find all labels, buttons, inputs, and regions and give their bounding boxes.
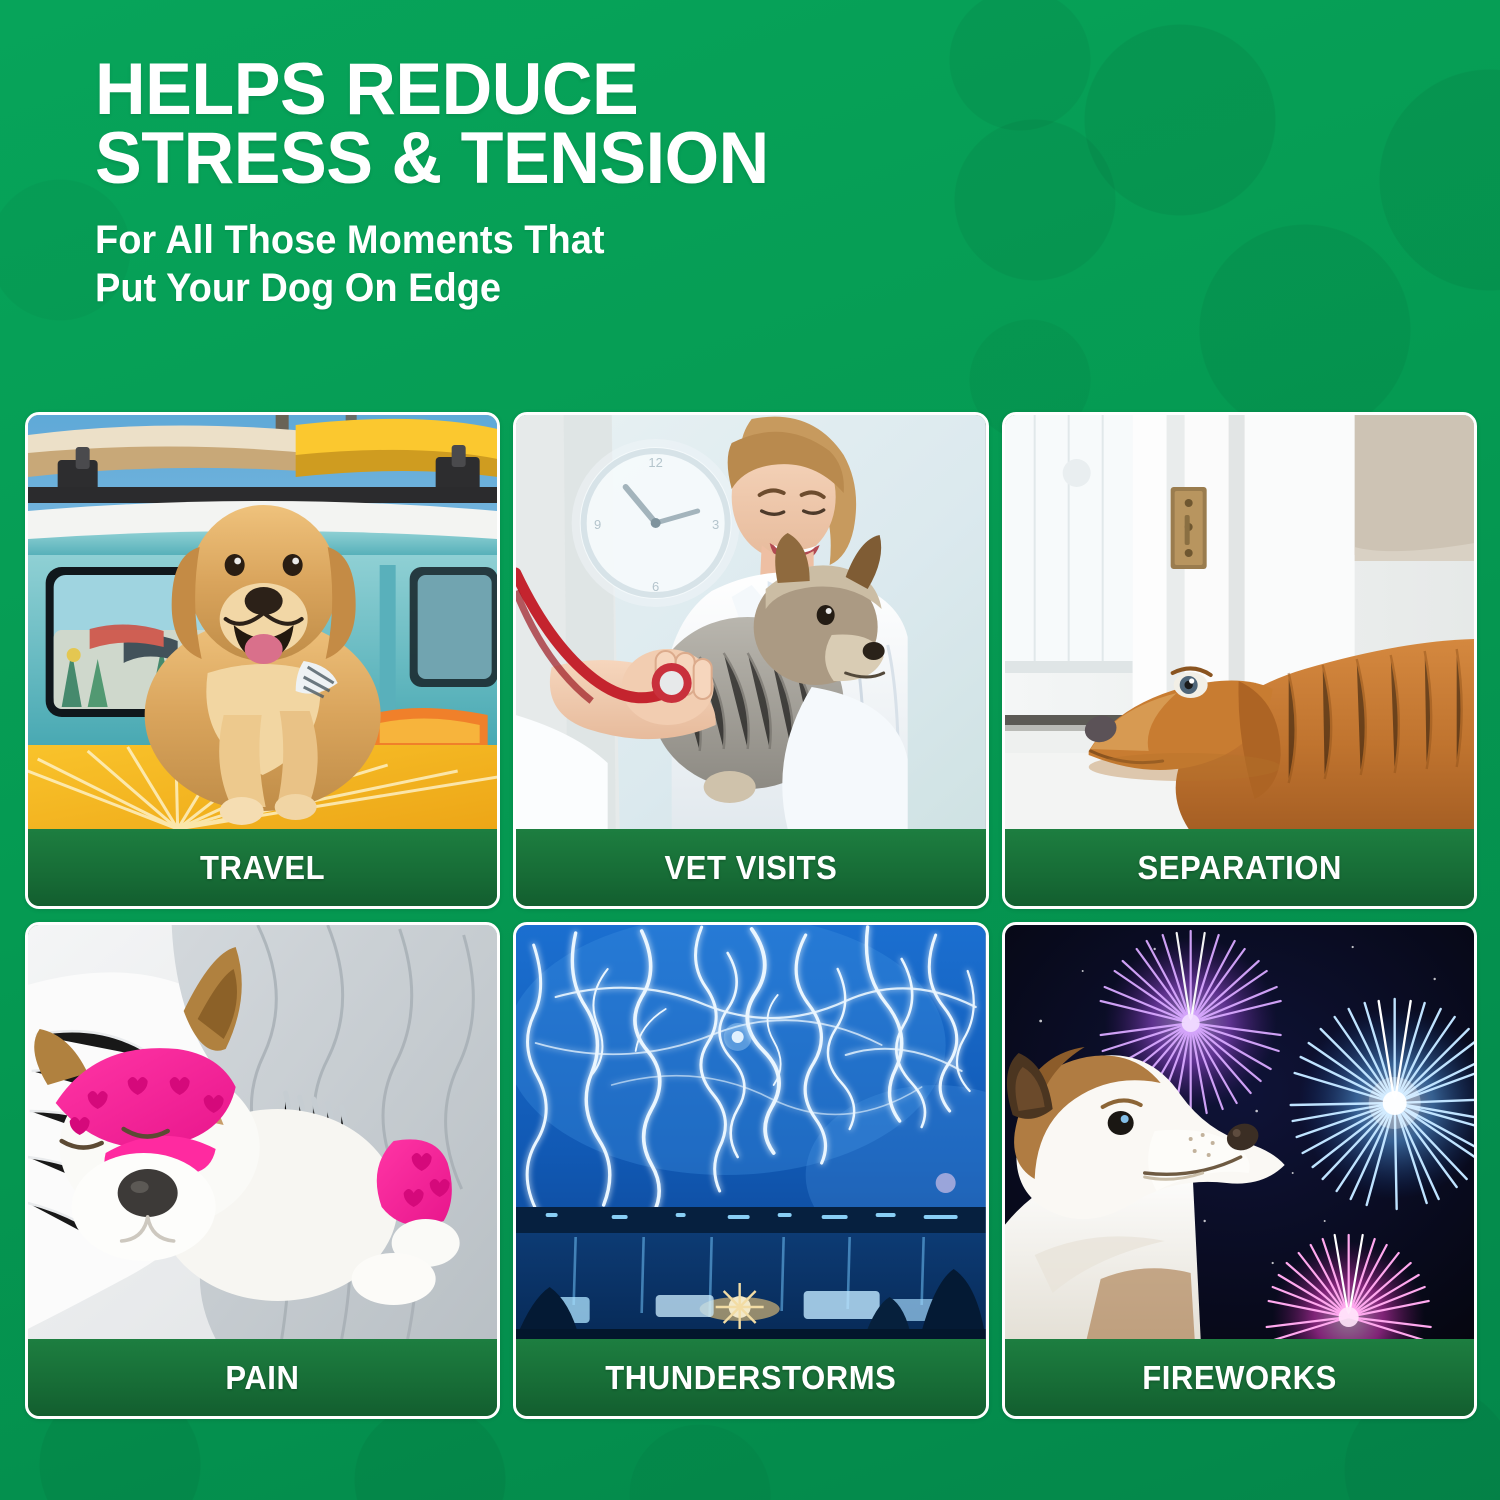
scenario-grid: TRAVEL: [25, 412, 1477, 1419]
separation-caption-band: SEPARATION: [1005, 829, 1474, 906]
thunderstorms-caption-label: THUNDERSTORMS: [605, 1359, 896, 1397]
fireworks-photo: [1005, 925, 1474, 1339]
pain-illustration: [28, 925, 497, 1339]
vet-visits-illustration: 123 69: [516, 415, 985, 829]
scenario-card-fireworks[interactable]: FIREWORKS: [1002, 922, 1477, 1419]
svg-text:12: 12: [649, 455, 663, 470]
svg-text:9: 9: [594, 517, 601, 532]
travel-photo: [28, 415, 497, 829]
travel-caption-label: TRAVEL: [200, 849, 325, 887]
scenario-card-vet-visits[interactable]: 123 69: [513, 412, 988, 909]
fireworks-caption-label: FIREWORKS: [1142, 1359, 1337, 1397]
promo-banner: HELPS REDUCE STRESS & TENSION For All Th…: [0, 0, 1500, 1500]
scenario-card-thunderstorms[interactable]: THUNDERSTORMS: [513, 922, 988, 1419]
fireworks-illustration: [1005, 925, 1474, 1339]
svg-text:6: 6: [652, 579, 659, 594]
svg-text:3: 3: [712, 517, 719, 532]
pain-photo: [28, 925, 497, 1339]
travel-illustration: [28, 415, 497, 829]
separation-photo: [1005, 415, 1474, 829]
travel-caption-band: TRAVEL: [28, 829, 497, 906]
vet-visits-caption-label: VET VISITS: [665, 849, 838, 887]
header-block: HELPS REDUCE STRESS & TENSION For All Th…: [95, 55, 1095, 313]
pain-caption-label: PAIN: [226, 1359, 300, 1397]
thunderstorms-caption-band: THUNDERSTORMS: [516, 1339, 985, 1416]
page-subtitle: For All Those Moments That Put Your Dog …: [95, 216, 1045, 314]
thunderstorms-photo: [516, 925, 985, 1339]
vet-visits-caption-band: VET VISITS: [516, 829, 985, 906]
thunderstorms-illustration: [516, 925, 985, 1339]
scenario-card-separation[interactable]: SEPARATION: [1002, 412, 1477, 909]
fireworks-caption-band: FIREWORKS: [1005, 1339, 1474, 1416]
scenario-card-travel[interactable]: TRAVEL: [25, 412, 500, 909]
separation-caption-label: SEPARATION: [1137, 849, 1341, 887]
page-title: HELPS REDUCE STRESS & TENSION: [95, 55, 1055, 194]
pain-caption-band: PAIN: [28, 1339, 497, 1416]
separation-illustration: [1005, 415, 1474, 829]
vet-visits-photo: 123 69: [516, 415, 985, 829]
scenario-card-pain[interactable]: PAIN: [25, 922, 500, 1419]
